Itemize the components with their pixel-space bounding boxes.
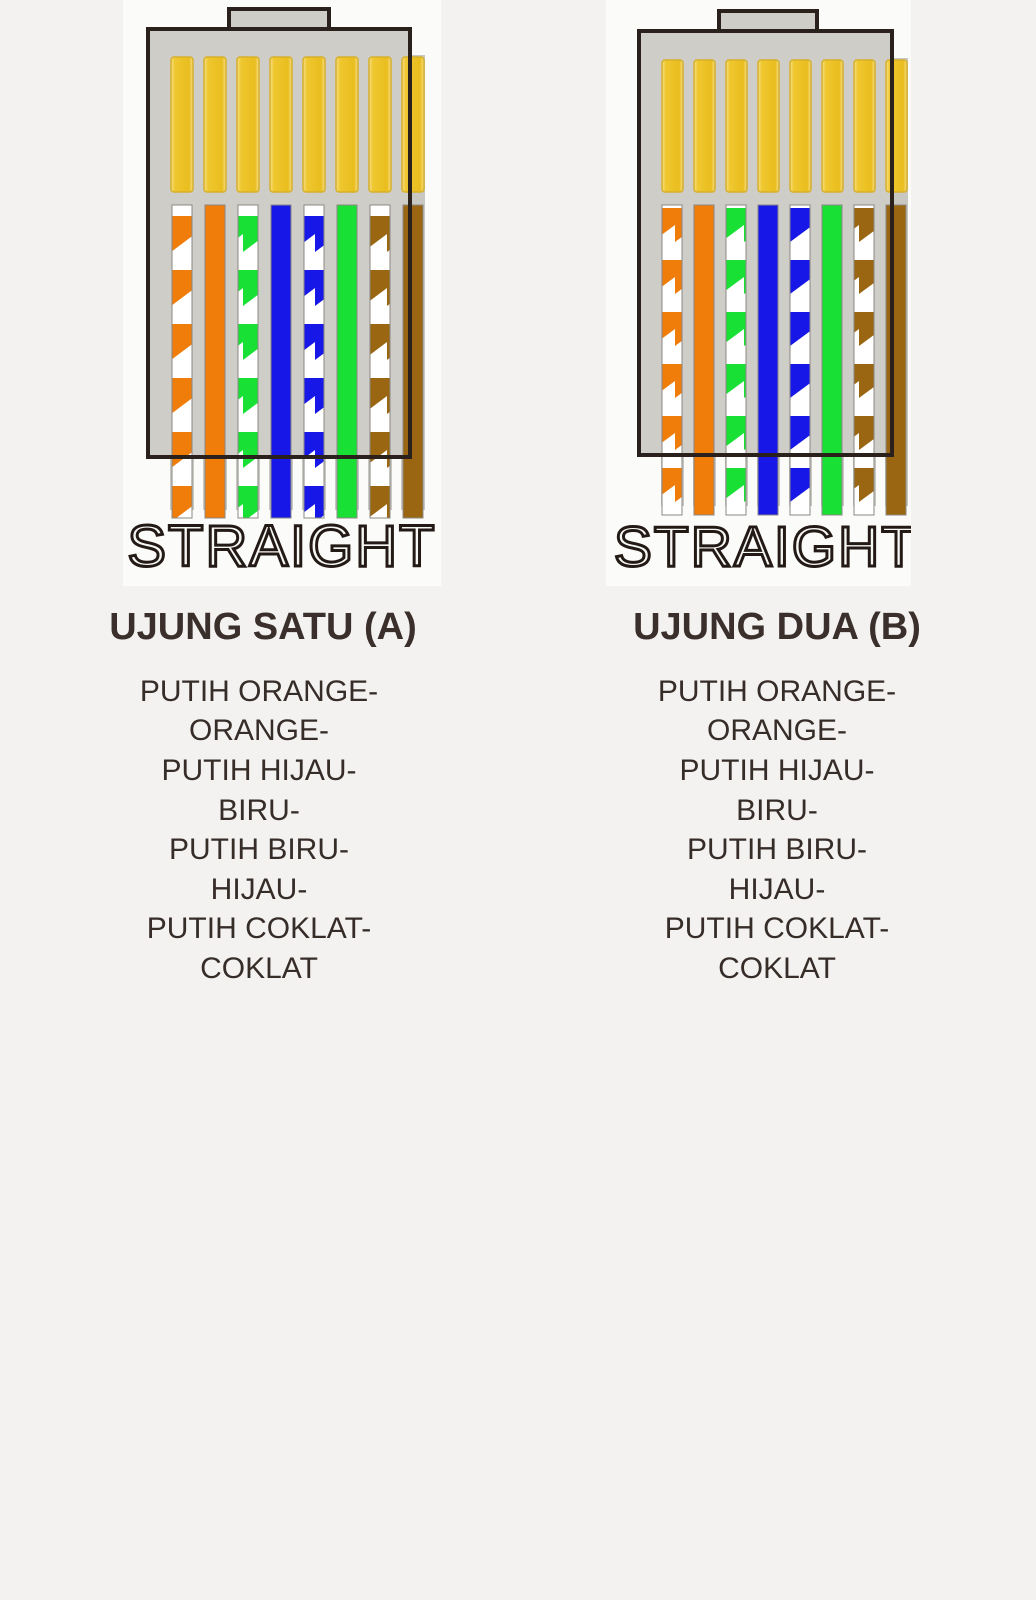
wire-3-putih-hijau [726,205,746,515]
wire-5-putih-biru [304,205,324,518]
rj45-connector-illustration-b: STRAIGHT [606,0,911,586]
color-order-list-b: PUTIH ORANGE- ORANGE- PUTIH HIJAU- BIRU-… [518,672,1036,989]
straight-caption-a: STRAIGHT [127,514,436,579]
wire-4-biru [271,205,291,518]
page-root: STRAIGHT UJUNG SATU (A) PUTIH ORANGE- OR… [0,0,1036,1600]
color-order-item: BIRU- [0,791,518,831]
straight-caption-b: STRAIGHT [614,515,911,579]
color-order-item: PUTIH BIRU- [518,830,1036,870]
wire-2-orange [694,205,714,515]
rj45-connector-illustration-a: STRAIGHT [123,0,441,586]
wire-2-orange [205,205,225,518]
wire-3-putih-hijau [238,205,258,518]
color-order-item: PUTIH ORANGE- [518,672,1036,712]
wire-1-putih-orange [172,205,192,518]
color-order-item: PUTIH BIRU- [0,830,518,870]
color-order-item: ORANGE- [518,711,1036,751]
color-order-item: COKLAT [0,949,518,989]
wire-6-hijau [337,205,357,518]
wire-6-hijau [822,205,842,515]
wire-7-putih-coklat [854,205,874,515]
color-order-item: ORANGE- [0,711,518,751]
column-ujung-satu: STRAIGHT UJUNG SATU (A) PUTIH ORANGE- OR… [0,0,518,989]
color-order-item: PUTIH ORANGE- [0,672,518,712]
wire-5-putih-biru [790,205,810,515]
diagram-columns: STRAIGHT UJUNG SATU (A) PUTIH ORANGE- OR… [0,0,1036,989]
wire-4-biru [758,205,778,515]
color-order-item: HIJAU- [518,870,1036,910]
heading-ujung-satu: UJUNG SATU (A) [0,608,518,648]
wire-8-coklat [403,205,423,518]
connector-diagram-panel-b: STRAIGHT [606,0,911,586]
connector-diagram-panel-a: STRAIGHT [123,0,441,586]
column-ujung-dua: STRAIGHT UJUNG DUA (B) PUTIH ORANGE- ORA… [518,0,1036,989]
color-order-item: BIRU- [518,791,1036,831]
color-order-item: PUTIH HIJAU- [518,751,1036,791]
color-order-item: HIJAU- [0,870,518,910]
wire-1-putih-orange [662,205,682,515]
color-order-list-a: PUTIH ORANGE- ORANGE- PUTIH HIJAU- BIRU-… [0,672,518,989]
color-order-item: PUTIH COKLAT- [0,909,518,949]
color-order-item: COKLAT [518,949,1036,989]
heading-ujung-dua: UJUNG DUA (B) [518,608,1036,648]
wire-8-coklat [886,205,906,515]
color-order-item: PUTIH HIJAU- [0,751,518,791]
color-order-item: PUTIH COKLAT- [518,909,1036,949]
wire-7-putih-coklat [370,205,390,518]
